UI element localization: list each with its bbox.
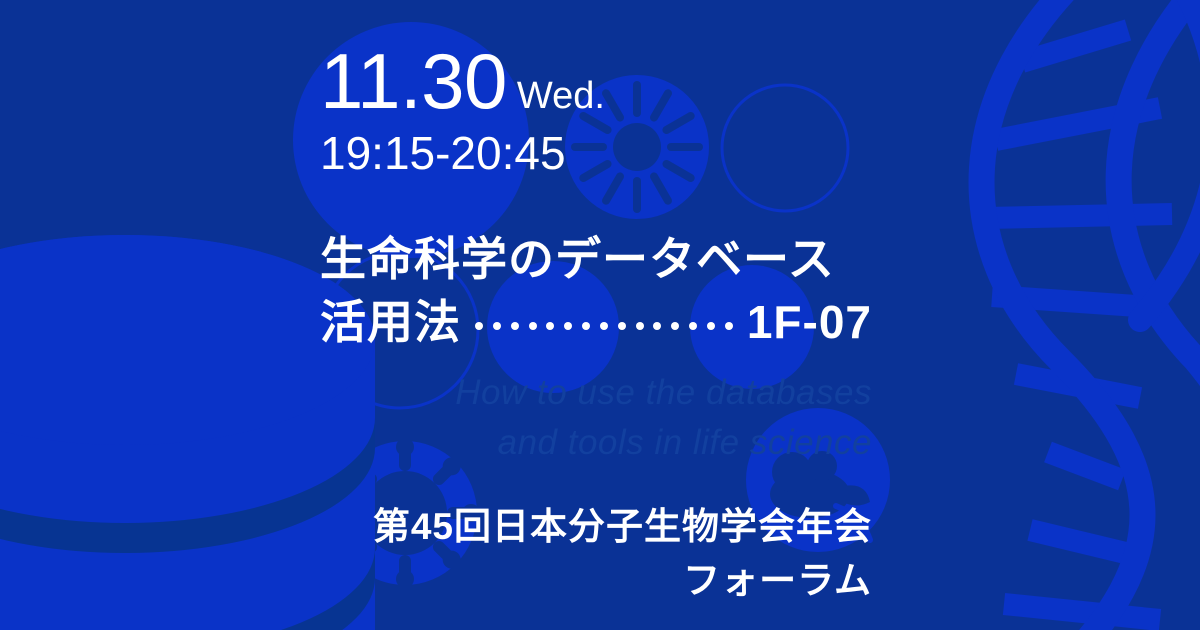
conference-block: 第45回日本分子生物学会年会 フォーラム <box>320 500 872 607</box>
event-time: 19:15-20:45 <box>320 126 605 181</box>
conference-name: 第45回日本分子生物学会年会 <box>320 500 872 554</box>
event-weekday: Wed. <box>517 77 605 115</box>
date-line-primary: 11.30 Wed. <box>320 42 605 120</box>
dotted-leader <box>475 316 733 330</box>
session-title-line-2-text: 活用法 <box>320 291 461 354</box>
session-title-block: 生命科学のデータベース 活用法 1F-07 <box>320 228 872 355</box>
content-column: 11.30 Wed. 19:15-20:45 生命科学のデータベース 活用法 1… <box>320 0 872 630</box>
session-title-line-2: 活用法 1F-07 <box>320 291 872 354</box>
room-code: 1F-07 <box>747 291 872 354</box>
english-subtitle-line-1: How to use the databases <box>320 368 872 418</box>
english-subtitle-block: How to use the databases and tools in li… <box>320 368 872 467</box>
date-block: 11.30 Wed. 19:15-20:45 <box>320 42 605 181</box>
english-subtitle-line-2: and tools in life science <box>320 418 872 468</box>
event-banner: 11.30 Wed. 19:15-20:45 生命科学のデータベース 活用法 1… <box>0 0 1200 630</box>
database-cylinder-bands <box>0 235 375 630</box>
event-date: 11.30 <box>320 42 507 120</box>
session-title-line-1: 生命科学のデータベース <box>320 228 872 291</box>
conference-session-type: フォーラム <box>320 554 872 608</box>
